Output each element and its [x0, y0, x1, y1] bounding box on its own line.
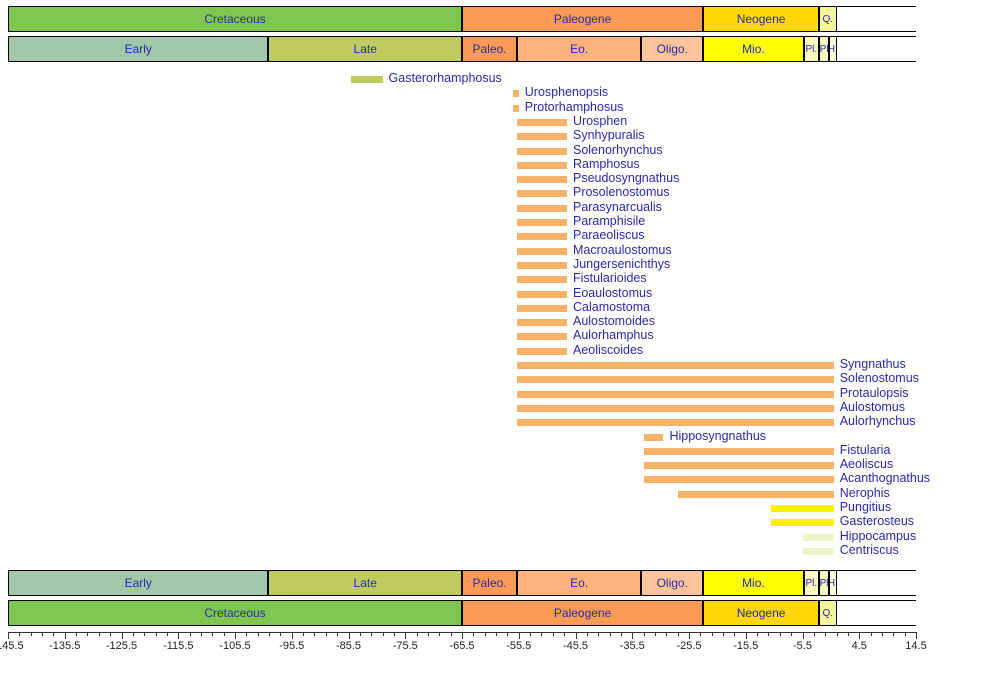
taxon-label: Ramphosus — [573, 158, 640, 170]
taxon-label: Aeoliscoides — [573, 344, 643, 356]
axis-tick-minor — [598, 632, 599, 636]
axis-tick-minor — [893, 632, 894, 636]
band-eo: Eo. — [517, 571, 641, 595]
range-bar[interactable] — [803, 534, 834, 541]
axis-tick-label: -85.5 — [336, 640, 361, 652]
axis-tick-minor — [621, 632, 622, 636]
range-bar[interactable] — [803, 548, 834, 555]
axis-tick-minor — [190, 632, 191, 636]
range-bar[interactable] — [517, 219, 567, 226]
axis-tick-minor — [280, 632, 281, 636]
taxon-label: Prosolenostomus — [573, 186, 670, 198]
band-label: Eo. — [570, 576, 588, 590]
axis-tick-minor — [133, 632, 134, 636]
axis-tick-minor — [87, 632, 88, 636]
chart-canvas: CretaceousPaleogeneNeogeneQ. EarlyLatePa… — [0, 0, 1000, 675]
range-bar[interactable] — [644, 448, 834, 455]
axis-tick-minor — [394, 632, 395, 636]
axis-tick-minor — [428, 632, 429, 636]
taxon-label: Hippocampus — [840, 530, 916, 542]
axis-tick-minor — [791, 632, 792, 636]
range-bar[interactable] — [517, 205, 567, 212]
range-bar[interactable] — [517, 176, 567, 183]
range-bar[interactable] — [517, 148, 567, 155]
axis-tick-label: -35.5 — [620, 640, 645, 652]
band-late: Late — [268, 571, 462, 595]
band-early: Early — [8, 571, 268, 595]
taxon-label: Solenorhynchus — [573, 144, 663, 156]
band-label: Paleogene — [554, 606, 611, 620]
axis-tick-minor — [530, 632, 531, 636]
axis-tick-minor — [768, 632, 769, 636]
taxon-label: Aulorhynchus — [840, 415, 916, 427]
axis-tick-label: 14.5 — [905, 640, 926, 652]
axis-tick-label: -55.5 — [506, 640, 531, 652]
range-bar[interactable] — [517, 190, 567, 197]
range-bar[interactable] — [513, 105, 519, 112]
axis-tick-major — [803, 632, 804, 639]
range-bar[interactable] — [771, 519, 833, 526]
axis-tick-minor — [314, 632, 315, 636]
taxon-label: Urosphen — [573, 115, 627, 127]
band-label: Mio. — [742, 576, 765, 590]
range-bar[interactable] — [644, 462, 834, 469]
axis-tick-label: 4.5 — [852, 640, 867, 652]
bottom-period-band: CretaceousPaleogeneNeogeneQ. — [8, 600, 916, 626]
axis-tick-major — [349, 632, 350, 639]
axis-tick-minor — [507, 632, 508, 636]
axis-tick-minor — [882, 632, 883, 636]
axis-tick-minor — [31, 632, 32, 636]
range-bar[interactable] — [517, 262, 567, 269]
axis-tick-label: -65.5 — [449, 640, 474, 652]
axis-tick-minor — [19, 632, 20, 636]
band-label: Early — [125, 576, 152, 590]
range-bar[interactable] — [517, 348, 567, 355]
taxon-label: Paramphisile — [573, 215, 645, 227]
axis-tick-label: -145.5 — [0, 640, 24, 652]
range-bar[interactable] — [644, 434, 664, 441]
axis-tick-major — [292, 632, 293, 639]
axis-tick-minor — [712, 632, 713, 636]
axis-tick-minor — [212, 632, 213, 636]
axis-tick-minor — [99, 632, 100, 636]
axis-tick-major — [632, 632, 633, 639]
axis-tick-major — [916, 632, 917, 639]
range-bar[interactable] — [517, 391, 834, 398]
bottom-epoch-band: EarlyLatePaleo.Eo.Oligo.Mio.Pl.PlH. — [8, 570, 916, 596]
axis-tick-label: -45.5 — [563, 640, 588, 652]
range-bar[interactable] — [517, 376, 834, 383]
axis-tick-major — [462, 632, 463, 639]
axis-tick-label: -115.5 — [163, 640, 193, 652]
range-bar[interactable] — [351, 76, 382, 83]
axis-tick-major — [689, 632, 690, 639]
axis-tick-minor — [417, 632, 418, 636]
taxon-label: Aulorhamphus — [573, 329, 654, 341]
axis-tick-major — [519, 632, 520, 639]
axis-tick-minor — [383, 632, 384, 636]
taxon-label: Synhypuralis — [573, 129, 645, 141]
taxon-label: Solenostomus — [840, 372, 919, 384]
taxon-label: Aulostomus — [840, 401, 905, 413]
axis-tick-minor — [734, 632, 735, 636]
axis-tick-major — [122, 632, 123, 639]
axis-tick-minor — [156, 632, 157, 636]
taxon-label: Hipposyngnathus — [669, 430, 766, 442]
band-label: Oligo. — [657, 576, 688, 590]
taxon-label: Pungitius — [840, 501, 891, 513]
range-bar[interactable] — [517, 119, 567, 126]
band-label: Late — [354, 576, 377, 590]
range-bar[interactable] — [517, 362, 834, 369]
axis-tick-major — [178, 632, 179, 639]
axis-tick-label: -125.5 — [106, 640, 137, 652]
axis-tick-minor — [167, 632, 168, 636]
taxon-label: Fistularia — [840, 444, 891, 456]
axis-tick-minor — [326, 632, 327, 636]
taxa-range-layer: GasterorhamphosusUrosphenopsisProtorhamp… — [0, 0, 1000, 565]
band-label: Paleo. — [473, 576, 507, 590]
range-bar[interactable] — [517, 333, 567, 340]
axis-tick-minor — [337, 632, 338, 636]
axis-tick-minor — [144, 632, 145, 636]
range-bar[interactable] — [517, 419, 834, 426]
axis-tick-minor — [246, 632, 247, 636]
range-bar[interactable] — [644, 476, 834, 483]
axis-tick-minor — [553, 632, 554, 636]
axis-tick-minor — [666, 632, 667, 636]
taxon-label: Syngnathus — [840, 358, 906, 370]
axis-tick-minor — [757, 632, 758, 636]
band-label: Pl — [820, 578, 829, 589]
taxon-label: Gasterorhamphosus — [389, 72, 502, 84]
axis-tick-label: -15.5 — [733, 640, 758, 652]
axis-tick-minor — [814, 632, 815, 636]
band-cretaceous: Cretaceous — [8, 601, 462, 625]
axis-tick-minor — [451, 632, 452, 636]
range-bar[interactable] — [517, 248, 567, 255]
axis-tick-minor — [723, 632, 724, 636]
band-pl: Pl — [819, 571, 829, 595]
axis-tick-minor — [110, 632, 111, 636]
taxon-label: Macroaulostomus — [573, 244, 672, 256]
axis-tick-label: -135.5 — [49, 640, 80, 652]
range-bar[interactable] — [678, 491, 834, 498]
axis-tick-major — [576, 632, 577, 639]
taxon-label: Parasynarcualis — [573, 201, 662, 213]
taxon-label: Pseudosyngnathus — [573, 172, 679, 184]
axis-tick-minor — [224, 632, 225, 636]
axis-tick-minor — [700, 632, 701, 636]
band-h: H. — [829, 571, 836, 595]
range-bar[interactable] — [517, 305, 567, 312]
axis-tick-minor — [371, 632, 372, 636]
axis-tick-label: -5.5 — [793, 640, 812, 652]
axis-tick-label: -25.5 — [676, 640, 701, 652]
range-bar[interactable] — [517, 405, 834, 412]
taxon-label: Aeoliscus — [840, 458, 894, 470]
range-bar[interactable] — [517, 133, 567, 140]
band-label: Q. — [822, 608, 833, 619]
taxon-label: Eoaulostomus — [573, 287, 652, 299]
axis-tick-label: -95.5 — [279, 640, 304, 652]
axis-tick-minor — [303, 632, 304, 636]
range-bar[interactable] — [517, 162, 567, 169]
axis-tick-minor — [269, 632, 270, 636]
axis-tick-minor — [258, 632, 259, 636]
axis-tick-minor — [42, 632, 43, 636]
axis-tick-minor — [201, 632, 202, 636]
band-oligo: Oligo. — [641, 571, 703, 595]
axis-tick-minor — [905, 632, 906, 636]
axis-tick-minor — [76, 632, 77, 636]
axis-tick-minor — [496, 632, 497, 636]
axis-tick-minor — [473, 632, 474, 636]
axis-tick-minor — [439, 632, 440, 636]
band-q: Q. — [819, 601, 837, 625]
band-label: Pl. — [805, 578, 817, 589]
axis-tick-minor — [837, 632, 838, 636]
taxon-label: Nerophis — [840, 487, 890, 499]
taxon-label: Jungersenichthys — [573, 258, 670, 270]
axis-tick-major — [235, 632, 236, 639]
band-neogene: Neogene — [703, 601, 819, 625]
taxon-label: Protorhamphosus — [525, 101, 624, 113]
range-bar[interactable] — [517, 276, 567, 283]
axis-tick-minor — [53, 632, 54, 636]
axis-tick-major — [859, 632, 860, 639]
band-label: Neogene — [737, 606, 786, 620]
axis-tick-label: -75.5 — [393, 640, 418, 652]
taxon-label: Fistularioides — [573, 272, 647, 284]
axis-tick-minor — [825, 632, 826, 636]
range-bar[interactable] — [513, 90, 519, 97]
taxon-label: Centriscus — [840, 544, 899, 556]
axis-tick-major — [746, 632, 747, 639]
axis-tick-minor — [871, 632, 872, 636]
taxon-label: Gasterosteus — [840, 515, 914, 527]
axis-tick-minor — [564, 632, 565, 636]
band-pl: Pl. — [804, 571, 819, 595]
axis-tick-minor — [541, 632, 542, 636]
band-label: Cretaceous — [204, 606, 265, 620]
band-paleo: Paleo. — [462, 571, 517, 595]
range-bar[interactable] — [517, 319, 567, 326]
range-bar[interactable] — [517, 233, 567, 240]
taxon-label: Calamostoma — [573, 301, 650, 313]
band-paleogene: Paleogene — [462, 601, 703, 625]
axis-tick-minor — [655, 632, 656, 636]
band-mio: Mio. — [703, 571, 803, 595]
band-label: H. — [829, 578, 836, 589]
axis-tick-minor — [610, 632, 611, 636]
axis-tick-minor — [644, 632, 645, 636]
taxon-label: Acanthognathus — [840, 472, 930, 484]
axis-tick-minor — [780, 632, 781, 636]
range-bar[interactable] — [517, 291, 567, 298]
axis-tick-minor — [360, 632, 361, 636]
axis-tick-label: -105.5 — [219, 640, 250, 652]
taxon-label: Urosphenopsis — [525, 86, 608, 98]
axis-tick-minor — [678, 632, 679, 636]
axis-tick-minor — [485, 632, 486, 636]
taxon-label: Paraeoliscus — [573, 229, 645, 241]
axis-tick-minor — [848, 632, 849, 636]
taxon-label: Protaulopsis — [840, 387, 909, 399]
taxon-label: Aulostomoides — [573, 315, 655, 327]
axis-tick-major — [8, 632, 9, 639]
axis-tick-major — [65, 632, 66, 639]
range-bar[interactable] — [771, 505, 833, 512]
axis-tick-minor — [587, 632, 588, 636]
axis-tick-major — [405, 632, 406, 639]
